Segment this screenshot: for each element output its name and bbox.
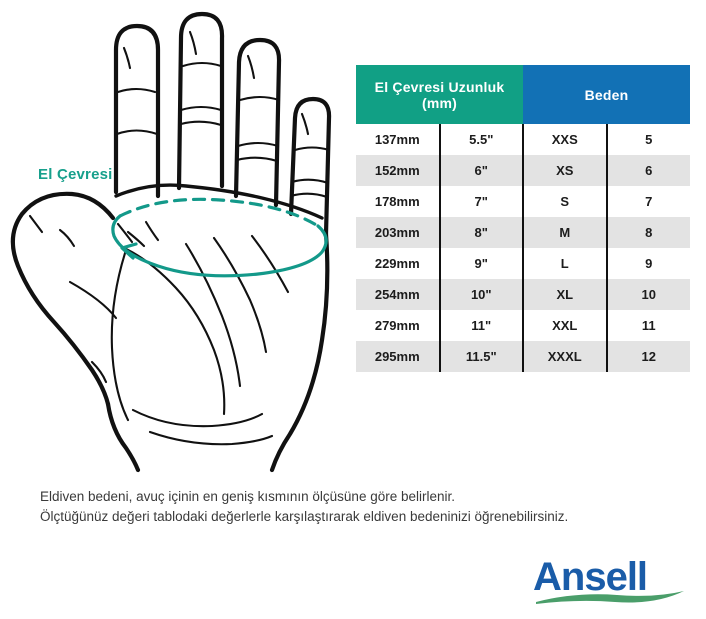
table-row: 295mm 11.5" XXXL 12 [356,341,690,372]
table-row: 254mm 10" XL 10 [356,279,690,310]
cell-inch: 8" [440,217,524,248]
instructions-line-1: Eldiven bedeni, avuç içinin en geniş kıs… [40,487,680,507]
cell-number: 7 [607,186,691,217]
table-row: 279mm 11" XXL 11 [356,310,690,341]
ansell-logo: Ansell [533,557,688,605]
cell-number: 5 [607,124,691,155]
cell-mm: 254mm [356,279,440,310]
instructions-line-2: Ölçtüğünüz değeri tablodaki değerlerle k… [40,507,680,527]
hand-circumference-label: El Çevresi [38,166,113,183]
cell-inch: 11" [440,310,524,341]
cell-mm: 203mm [356,217,440,248]
cell-size: XXS [523,124,607,155]
cell-size: M [523,217,607,248]
column-header-size: Beden [523,65,690,124]
table-row: 178mm 7" S 7 [356,186,690,217]
cell-mm: 178mm [356,186,440,217]
table-header-row: El Çevresi Uzunluk (mm) Beden [356,65,690,124]
cell-number: 9 [607,248,691,279]
cell-size: XXXL [523,341,607,372]
instructions-text: Eldiven bedeni, avuç içinin en geniş kıs… [40,487,680,527]
glove-size-table: El Çevresi Uzunluk (mm) Beden 137mm 5.5"… [356,65,690,372]
table-row: 152mm 6" XS 6 [356,155,690,186]
cell-mm: 279mm [356,310,440,341]
cell-size: XS [523,155,607,186]
table-row: 137mm 5.5" XXS 5 [356,124,690,155]
table-row: 203mm 8" M 8 [356,217,690,248]
size-chart-page: El Çevresi El Çevresi Uzunluk (mm) Beden… [0,0,706,619]
table-row: 229mm 9" L 9 [356,248,690,279]
ansell-swoosh-icon [535,590,685,606]
cell-mm: 295mm [356,341,440,372]
cell-inch: 9" [440,248,524,279]
table-header: El Çevresi Uzunluk (mm) Beden [356,65,690,124]
cell-inch: 11.5" [440,341,524,372]
cell-size: XXL [523,310,607,341]
column-header-circumference: El Çevresi Uzunluk (mm) [356,65,523,124]
cell-inch: 6" [440,155,524,186]
hand-diagram-svg [0,0,350,480]
cell-inch: 5.5" [440,124,524,155]
cell-inch: 7" [440,186,524,217]
cell-number: 10 [607,279,691,310]
cell-number: 6 [607,155,691,186]
cell-number: 11 [607,310,691,341]
cell-number: 12 [607,341,691,372]
cell-mm: 137mm [356,124,440,155]
cell-size: XL [523,279,607,310]
table-body: 137mm 5.5" XXS 5 152mm 6" XS 6 178mm 7" … [356,124,690,372]
hand-illustration: El Çevresi [0,0,350,480]
cell-mm: 229mm [356,248,440,279]
cell-inch: 10" [440,279,524,310]
cell-number: 8 [607,217,691,248]
cell-size: L [523,248,607,279]
cell-size: S [523,186,607,217]
cell-mm: 152mm [356,155,440,186]
